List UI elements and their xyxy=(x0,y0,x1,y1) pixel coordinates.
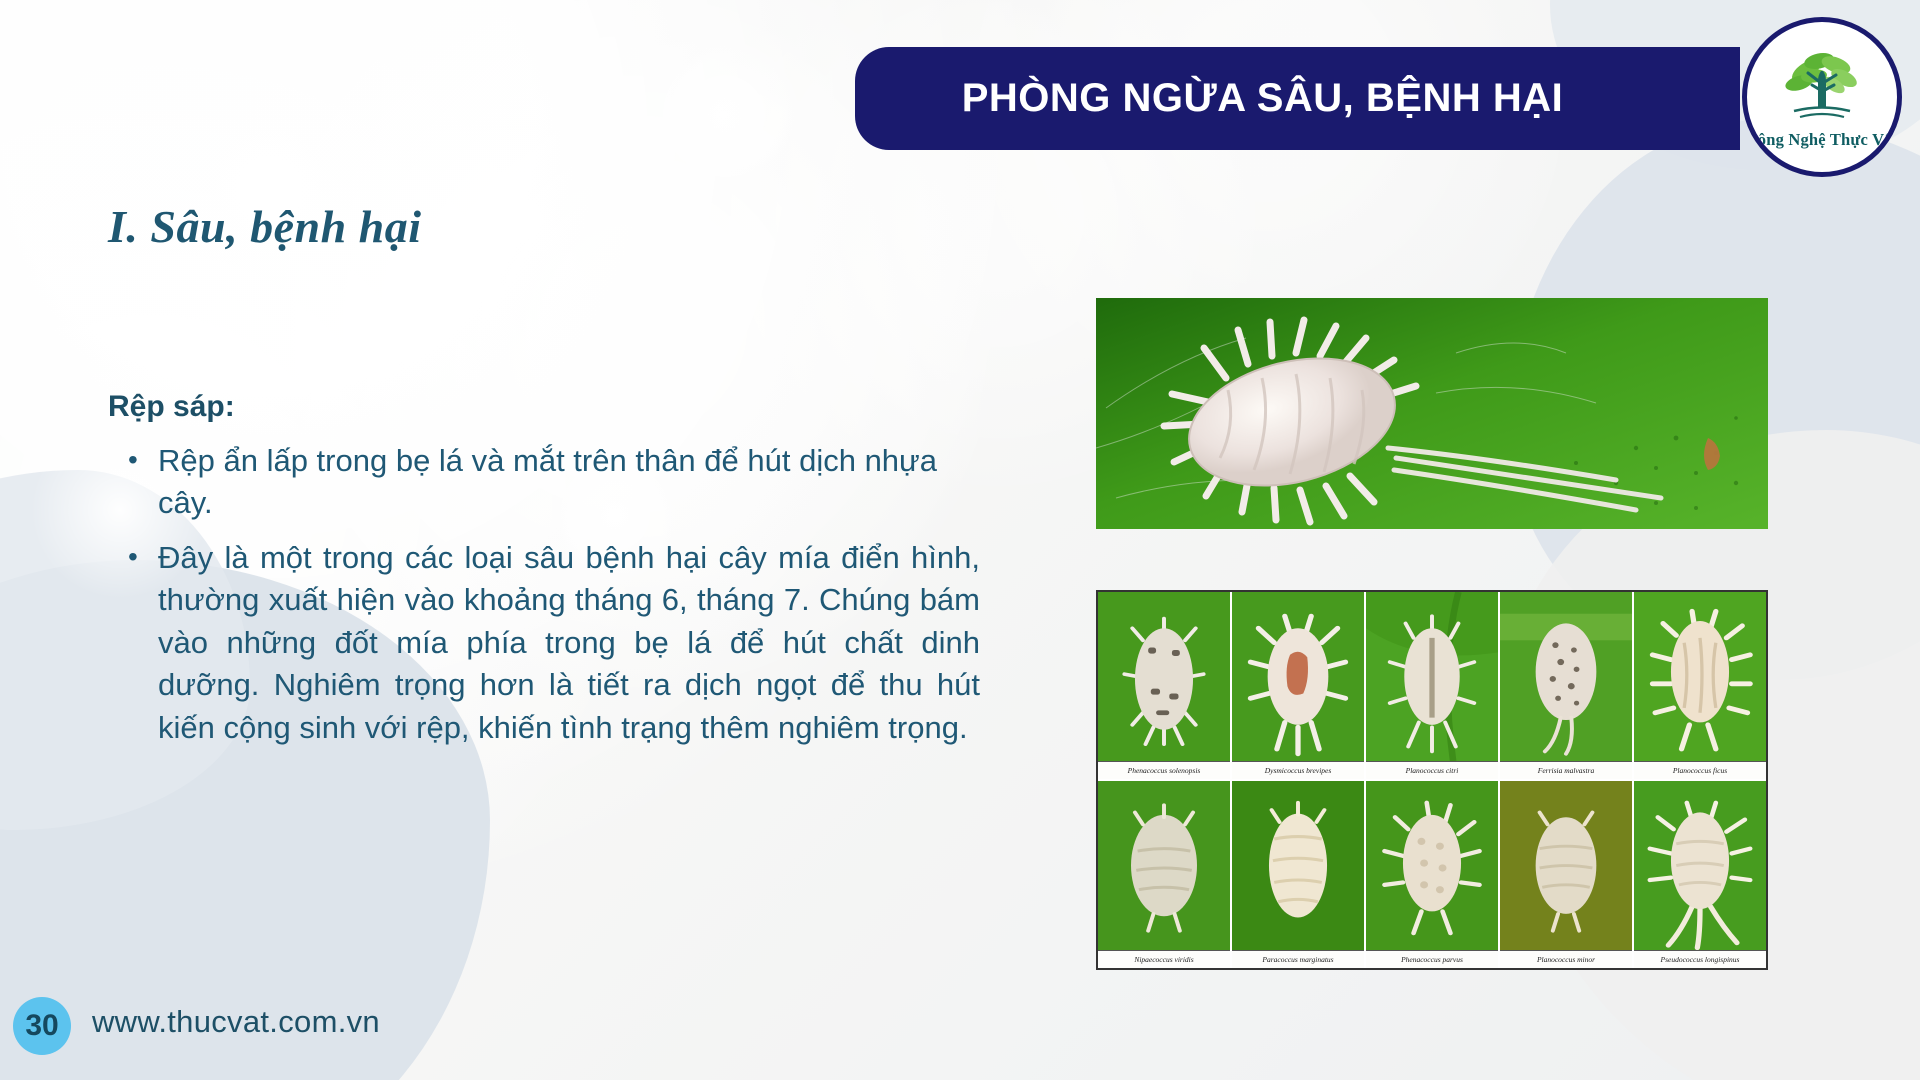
grid-cell: Ferrisia malvastra xyxy=(1500,592,1632,779)
grid-cell: Phenacoccus parvus xyxy=(1366,781,1498,968)
grid-cell: Phenacoccus solenopsis xyxy=(1098,592,1230,779)
grid-cell: Dysmicoccus brevipes xyxy=(1232,592,1364,779)
slide-root: PHÒNG NGỪA SÂU, BỆNH HẠI xyxy=(0,0,1920,1080)
species-photo xyxy=(1366,781,1498,950)
species-caption: Ferrisia malvastra xyxy=(1500,761,1632,779)
page-number-badge: 30 xyxy=(13,997,71,1055)
species-photo xyxy=(1634,592,1766,761)
lead-label: Rệp sáp: xyxy=(108,390,235,424)
bullet-list: • Rệp ẩn lấp trong bẹ lá và mắt trên thâ… xyxy=(128,440,980,761)
grid-cell: Nipaecoccus viridis xyxy=(1098,781,1230,968)
grid-cell: Pseudococcus longispinus xyxy=(1634,781,1766,968)
bullet-marker-icon: • xyxy=(128,440,158,525)
page-title: I. Sâu, bệnh hại xyxy=(108,200,422,253)
bokeh-light-3 xyxy=(640,30,810,200)
grid-cell: Planococcus minor xyxy=(1500,781,1632,968)
bullet-marker-icon: • xyxy=(128,537,158,749)
species-photo xyxy=(1098,781,1230,950)
species-photo xyxy=(1098,592,1230,761)
species-photo xyxy=(1366,592,1498,761)
tree-logo-icon xyxy=(1774,45,1870,129)
species-caption: Paracoccus marginatus xyxy=(1232,950,1364,968)
list-item: • Đây là một trong các loại sâu bệnh hại… xyxy=(128,537,980,749)
logo-brand-text: Công Nghệ Thực Vật xyxy=(1746,130,1899,150)
mealybug-species-grid: Phenacoccus solenopsis xyxy=(1096,590,1768,970)
species-photo xyxy=(1634,781,1766,950)
grid-cell: Planococcus ficus xyxy=(1634,592,1766,779)
species-caption: Nipaecoccus viridis xyxy=(1098,950,1230,968)
grid-cell: Planococcus citri xyxy=(1366,592,1498,779)
species-caption: Phenacoccus solenopsis xyxy=(1098,761,1230,779)
species-photo xyxy=(1500,592,1632,761)
bokeh-light-2 xyxy=(420,120,620,320)
species-caption: Pseudococcus longispinus xyxy=(1634,950,1766,968)
species-caption: Dysmicoccus brevipes xyxy=(1232,761,1364,779)
brand-logo: Công Nghệ Thực Vật xyxy=(1742,17,1902,177)
grid-cell: Paracoccus marginatus xyxy=(1232,781,1364,968)
banner-title: PHÒNG NGỪA SÂU, BỆNH HẠI xyxy=(855,76,1740,121)
bokeh-light-1 xyxy=(120,40,420,340)
list-item: • Rệp ẩn lấp trong bẹ lá và mắt trên thâ… xyxy=(128,440,980,525)
list-item-text: Đây là một trong các loại sâu bệnh hại c… xyxy=(158,537,980,749)
species-caption: Planococcus citri xyxy=(1366,761,1498,779)
species-caption: Planococcus minor xyxy=(1500,950,1632,968)
species-photo xyxy=(1232,592,1364,761)
header-banner: PHÒNG NGỪA SÂU, BỆNH HẠI xyxy=(855,47,1740,150)
species-caption: Phenacoccus parvus xyxy=(1366,950,1498,968)
species-photo xyxy=(1500,781,1632,950)
list-item-text: Rệp ẩn lấp trong bẹ lá và mắt trên thân … xyxy=(158,440,980,525)
species-caption: Planococcus ficus xyxy=(1634,761,1766,779)
mealybug-main-photo xyxy=(1096,298,1768,529)
website-url: www.thucvat.com.vn xyxy=(92,1004,380,1040)
species-photo xyxy=(1232,781,1364,950)
